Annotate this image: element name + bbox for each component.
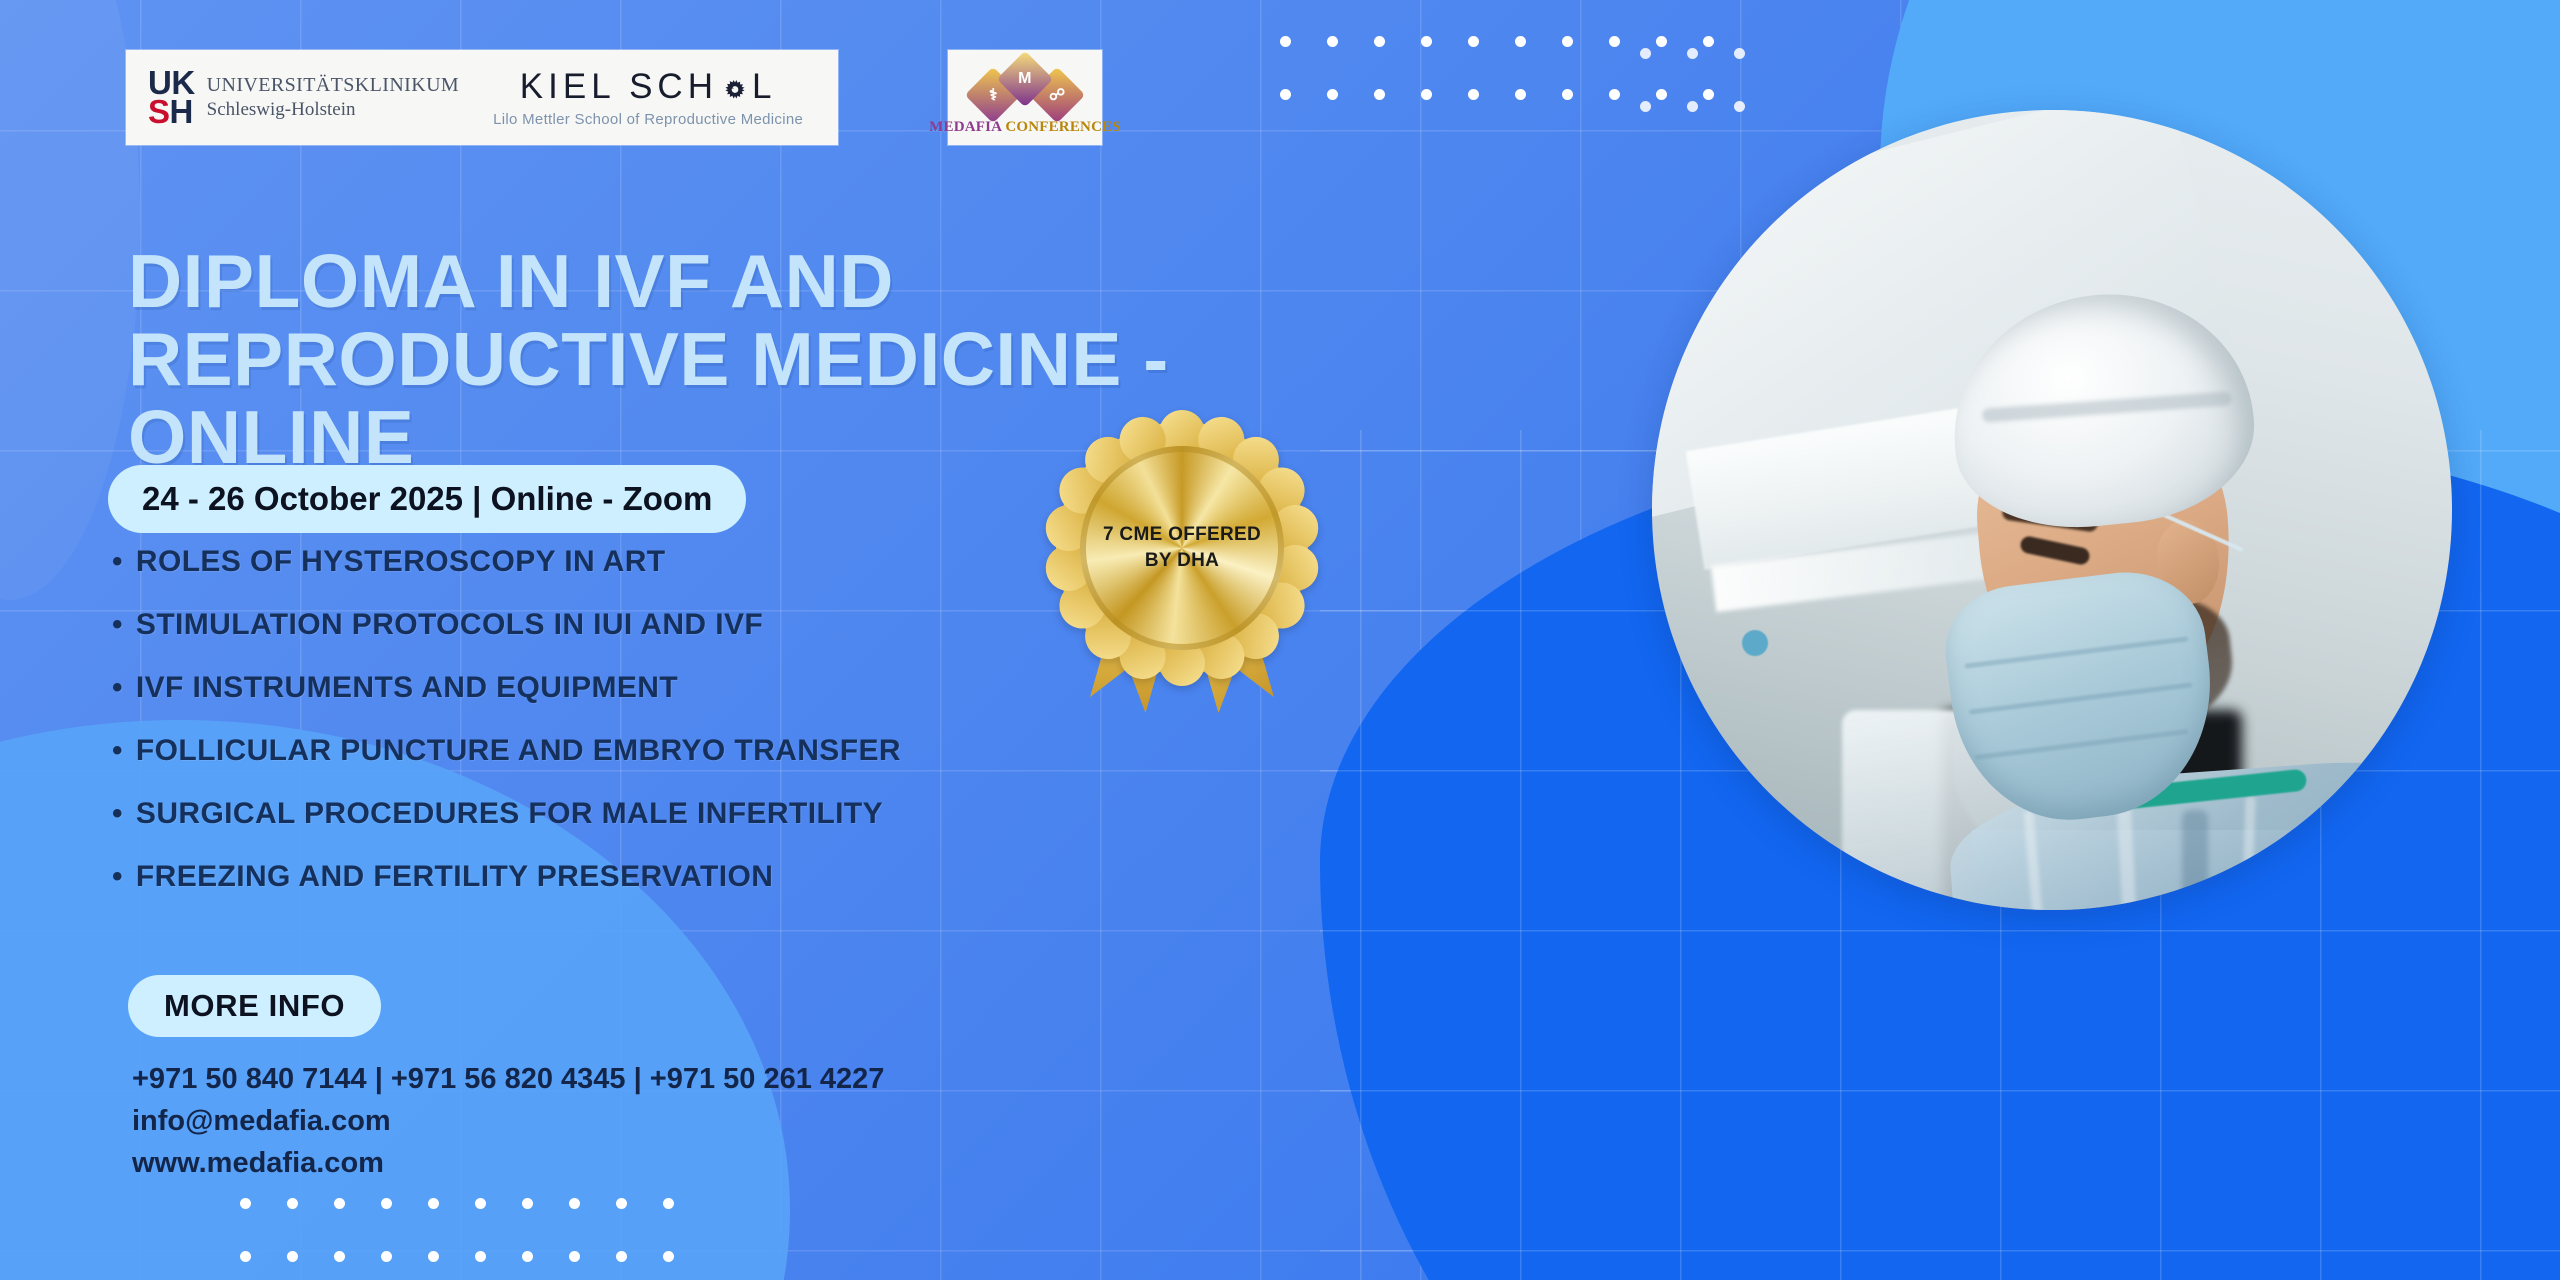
promo-banner: UK SH UNIVERSITÄTSKLINIKUM Schleswig-Hol… xyxy=(0,0,2560,1280)
bullet-icon: • xyxy=(112,736,123,766)
gown-shadow xyxy=(2182,810,2208,910)
topic-label: FOLLICULAR PUNCTURE AND EMBRYO TRANSFER xyxy=(136,734,901,768)
phone-numbers[interactable]: +971 50 840 7144 | +971 56 820 4345 | +9… xyxy=(132,1058,884,1100)
medafia-conferences-logo-card: ⚕ ☍ M MEDAFIA CONFERENCES xyxy=(948,50,1102,145)
uksh-wordmark: UK SH xyxy=(148,69,195,126)
uksh-mark-s: S xyxy=(148,93,170,130)
bottom-left-dot-pattern xyxy=(240,1198,710,1280)
list-item: •FREEZING AND FERTILITY PRESERVATION xyxy=(112,860,1292,894)
bullet-icon: • xyxy=(112,862,123,892)
photo-overlay-dot-pattern xyxy=(1640,48,1781,154)
email-address[interactable]: info@medafia.com xyxy=(132,1100,884,1142)
logo-strip: UK SH UNIVERSITÄTSKLINIKUM Schleswig-Hol… xyxy=(126,50,1102,145)
seal-face: 7 CME OFFERED BY DHA xyxy=(1080,446,1284,650)
kiel-school-title: KIEL SCH L xyxy=(520,67,777,107)
partner-logos-card: UK SH UNIVERSITÄTSKLINIKUM Schleswig-Hol… xyxy=(126,50,838,145)
uksh-mark-h: H xyxy=(170,93,193,130)
contact-info: +971 50 840 7144 | +971 56 820 4345 | +9… xyxy=(132,1058,884,1184)
medafia-wordmark: MEDAFIA CONFERENCES xyxy=(929,119,1121,136)
more-info-button[interactable]: MORE INFO xyxy=(128,975,381,1037)
list-item: •SURGICAL PROCEDURES FOR MALE INFERTILIT… xyxy=(112,797,1292,831)
kiel-title-before: KIEL SCH xyxy=(520,67,718,107)
cme-award-seal: 7 CME OFFERED BY DHA xyxy=(1048,418,1316,718)
date-venue-badge: 24 - 26 October 2025 | Online - Zoom xyxy=(108,465,746,533)
uksh-mark-line2: SH xyxy=(148,98,195,126)
uksh-name-line1: UNIVERSITÄTSKLINIKUM xyxy=(207,73,459,98)
medafia-diamond-letter: M xyxy=(1018,70,1031,88)
topic-label: FREEZING AND FERTILITY PRESERVATION xyxy=(136,860,773,894)
medafia-word-second: CONFERENCES xyxy=(1005,119,1121,135)
website-url[interactable]: www.medafia.com xyxy=(132,1142,884,1184)
kiel-title-after: L xyxy=(752,67,776,107)
bullet-icon: • xyxy=(112,673,123,703)
topic-label: SURGICAL PROCEDURES FOR MALE INFERTILITY xyxy=(136,797,883,831)
gear-icon xyxy=(722,74,748,100)
topic-label: ROLES OF HYSTEROSCOPY IN ART xyxy=(136,545,666,579)
equipment-knob xyxy=(1742,630,1768,656)
medafia-diamond-mark: ⚕ ☍ M xyxy=(965,59,1085,117)
topic-label: IVF INSTRUMENTS AND EQUIPMENT xyxy=(136,671,678,705)
uksh-name: UNIVERSITÄTSKLINIKUM Schleswig-Holstein xyxy=(207,73,459,122)
topic-label: STIMULATION PROTOCOLS IN IUI AND IVF xyxy=(136,608,763,642)
kiel-school-subtitle: Lilo Mettler School of Reproductive Medi… xyxy=(493,111,803,128)
uksh-logo: UK SH UNIVERSITÄTSKLINIKUM Schleswig-Hol… xyxy=(148,69,459,126)
bullet-icon: • xyxy=(112,799,123,829)
kiel-school-logo: KIEL SCH L Lilo Mettler School of Reprod… xyxy=(493,67,803,128)
uksh-name-line2: Schleswig-Holstein xyxy=(207,98,459,122)
bullet-icon: • xyxy=(112,547,123,577)
list-item: •FOLLICULAR PUNCTURE AND EMBRYO TRANSFER xyxy=(112,734,1292,768)
seal-text-line1: 7 CME OFFERED xyxy=(1103,524,1261,546)
surgeon-photo xyxy=(1652,110,2452,910)
bullet-icon: • xyxy=(112,610,123,640)
medafia-word-first: MEDAFIA xyxy=(929,119,1001,135)
seal-text-line2: BY DHA xyxy=(1145,550,1219,572)
